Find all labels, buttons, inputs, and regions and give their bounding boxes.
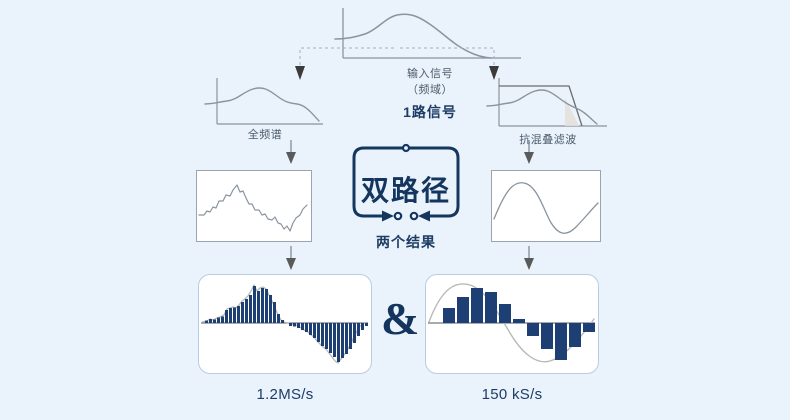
left-arrow-to-result (283, 246, 299, 272)
ampersand-separator: & (381, 296, 419, 342)
full-spectrum-label: 全频谱 (205, 126, 325, 142)
low-rate-sampled-panel (425, 274, 599, 374)
anti-aliasing-label: 抗混叠滤波 (487, 131, 609, 147)
high-rate-sampled-panel (198, 274, 372, 374)
right-arrow-to-scope (521, 140, 537, 166)
filtered-sine-timeseries-box (491, 170, 601, 242)
dual-path-badge-text: 双路径 (348, 169, 464, 209)
high-rate-label: 1.2MS/s (198, 386, 372, 403)
full-spectrum-chart (205, 76, 325, 132)
anti-aliasing-filter-chart (487, 76, 609, 134)
diagram-canvas: 输入信号 （频域） 1路信号 全频谱 (0, 0, 790, 420)
low-rate-label: 150 kS/s (425, 386, 599, 403)
right-arrow-to-result (521, 246, 537, 272)
left-arrow-to-scope (283, 140, 299, 166)
two-results-label: 两个结果 (348, 232, 464, 252)
full-spectrum-timeseries-box (196, 170, 312, 242)
